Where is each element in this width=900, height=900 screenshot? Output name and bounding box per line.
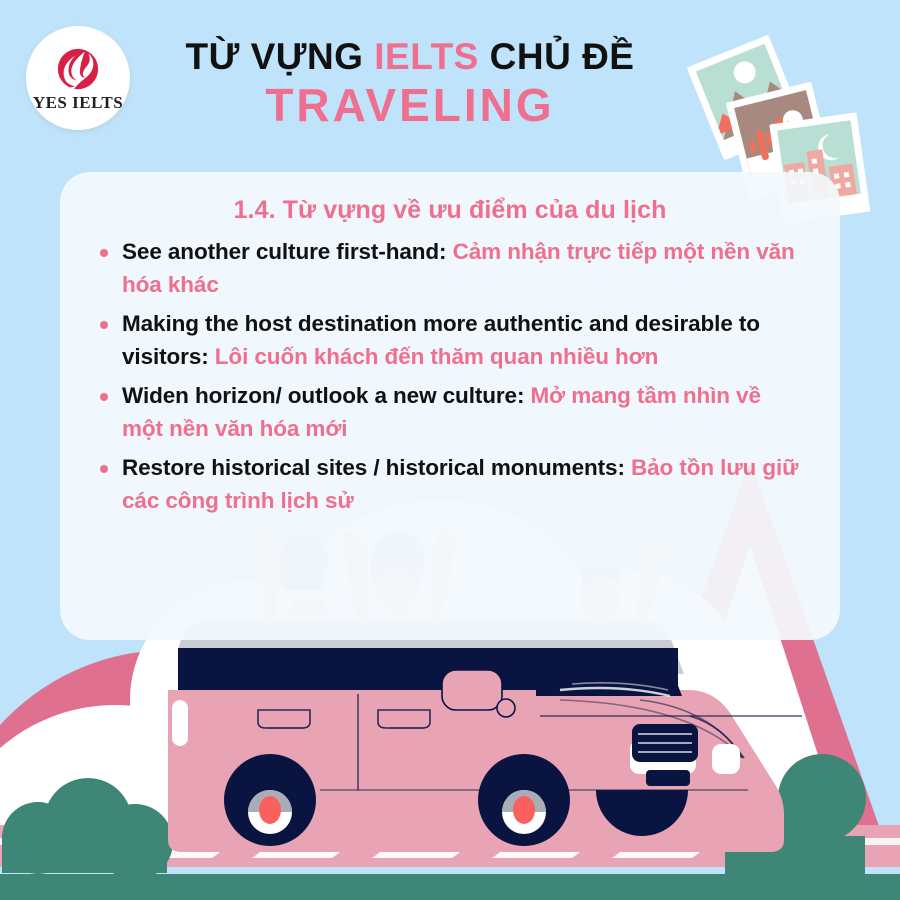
term-vi: Lôi cuốn khách đến thăm quan nhiều hơn — [209, 344, 659, 369]
list-item: Widen horizon/ outlook a new culture: Mở… — [94, 379, 806, 445]
bullet-dot-icon — [100, 249, 108, 257]
list-item-text: Making the host destination more authent… — [122, 307, 806, 373]
list-item-text: Widen horizon/ outlook a new culture: Mở… — [122, 379, 806, 445]
bullet-dot-icon — [100, 321, 108, 329]
term-en: Restore historical sites / historical mo… — [122, 455, 625, 480]
title-suffix: CHỦ ĐỀ — [479, 36, 635, 77]
bumper-vent — [646, 770, 690, 786]
logo-text: YES IELTS — [33, 94, 123, 111]
page-subtitle: TRAVELING — [150, 79, 670, 132]
brand-logo[interactable]: YES IELTS — [26, 26, 130, 130]
title-highlight: IELTS — [374, 36, 479, 77]
list-item: Restore historical sites / historical mo… — [94, 451, 806, 517]
poster: YES IELTS TỪ VỰNG IELTS CHỦ ĐỀ TRAVELING… — [0, 0, 900, 900]
term-en: See another culture first-hand: — [122, 239, 446, 264]
grille — [632, 724, 698, 762]
vocabulary-list: See another culture first-hand: Cảm nhận… — [94, 235, 806, 518]
list-item: See another culture first-hand: Cảm nhận… — [94, 235, 806, 301]
flame-mark-icon — [55, 46, 101, 92]
bullet-dot-icon — [100, 465, 108, 473]
taillight — [172, 700, 188, 746]
bullet-dot-icon — [100, 393, 108, 401]
wheel-rear — [224, 754, 316, 846]
title-prefix: TỪ VỰNG — [186, 36, 375, 77]
poster-header: TỪ VỰNG IELTS CHỦ ĐỀ TRAVELING — [150, 36, 670, 132]
list-item: Making the host destination more authent… — [94, 307, 806, 373]
list-item-text: Restore historical sites / historical mo… — [122, 451, 806, 517]
page-title: TỪ VỰNG IELTS CHỦ ĐỀ — [150, 36, 670, 77]
wheel-front — [478, 754, 570, 846]
section-heading: 1.4. Từ vựng về ưu điểm của du lịch — [94, 196, 806, 225]
term-en: Widen horizon/ outlook a new culture: — [122, 383, 524, 408]
list-item-text: See another culture first-hand: Cảm nhận… — [122, 235, 806, 301]
headlight-right — [712, 744, 740, 774]
content-card: 1.4. Từ vựng về ưu điểm của du lịch See … — [60, 172, 840, 640]
